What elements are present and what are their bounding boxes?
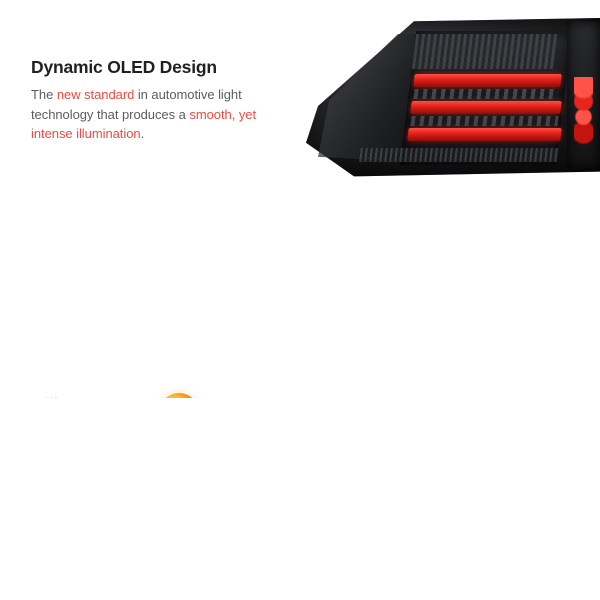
page-title-oled: Dynamic OLED Design [31,56,276,78]
reverse-lens [412,34,557,69]
product-feature-page: Dynamic OLED Design The new standard in … [0,0,600,600]
lens-mesh-band [413,89,558,99]
base-plug-image [0,389,150,398]
section-plug-and-play: Our base plug OEM bulb OEM bulb socket P… [0,193,600,398]
text-run: The [31,87,57,102]
oled-text-block: Dynamic OLED Design The new standard in … [31,56,276,144]
red-led-bar [413,74,562,87]
tail-light-unlit-image [300,18,600,178]
red-led-bar [407,128,562,141]
oled-description: The new standard in automotive light tec… [31,85,276,144]
red-led-bar [410,101,562,114]
lamp-secondary-section [567,21,600,168]
section-intense-led: Intense LED Design Equipped with quad-mo… [0,398,600,600]
lamp-lower-strip [359,148,559,162]
accent-text-run: new standard [57,87,134,102]
lens-mesh-band [410,116,558,126]
section-oled-design: Dynamic OLED Design The new standard in … [0,0,600,193]
red-led-dots [574,77,593,148]
text-run: . [141,126,145,141]
